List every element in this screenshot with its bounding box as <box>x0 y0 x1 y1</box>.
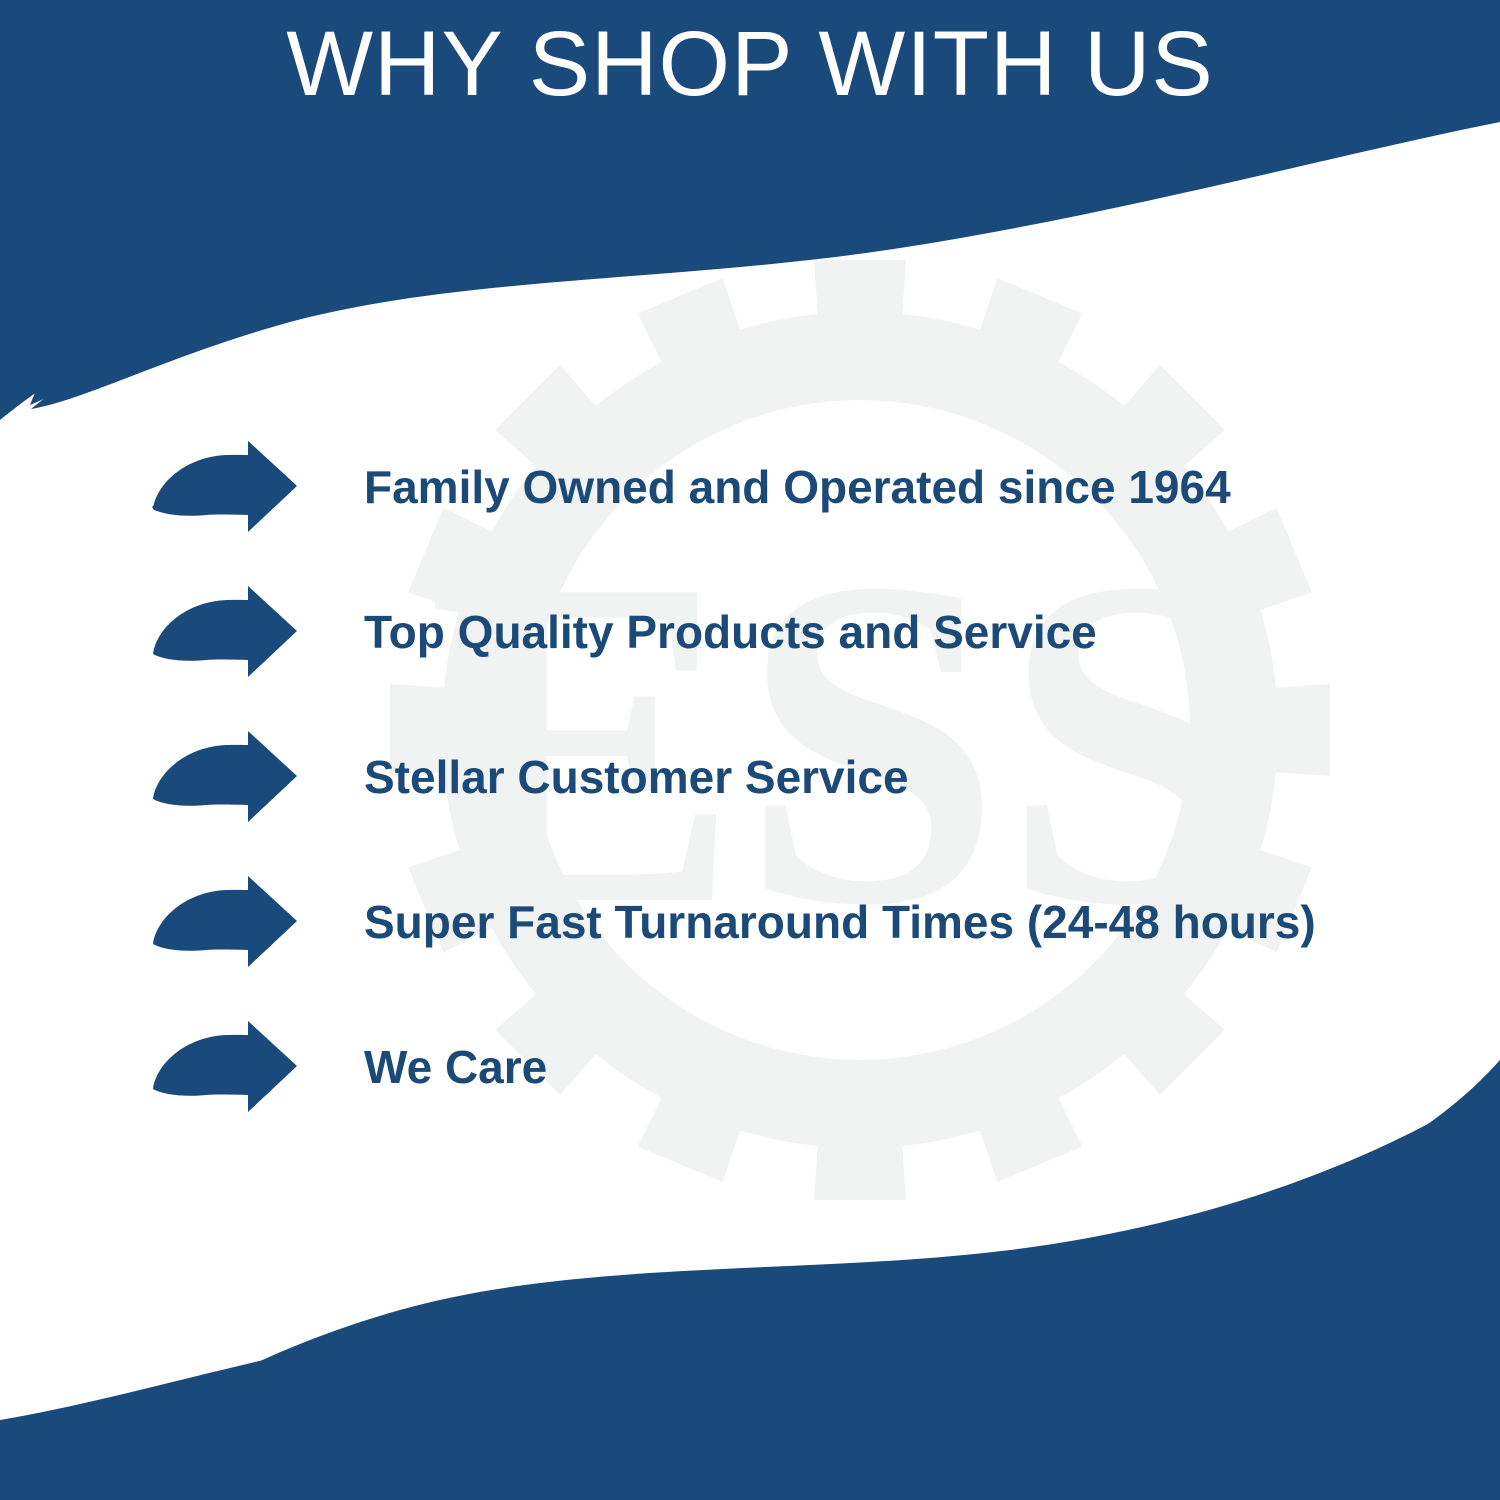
list-item: Stellar Customer Service <box>150 727 1460 827</box>
curved-arrow-right-icon <box>150 876 298 968</box>
list-item: Family Owned and Operated since 1964 <box>150 437 1460 537</box>
curved-arrow-right-icon <box>150 1021 298 1113</box>
top-wave-sliver <box>31 76 1500 409</box>
curved-arrow-right-icon <box>150 731 298 823</box>
list-item: We Care <box>150 1017 1460 1117</box>
list-item-label: Super Fast Turnaround Times (24-48 hours… <box>364 897 1460 948</box>
list-item-label: We Care <box>364 1042 1460 1093</box>
bottom-wave-body <box>0 1062 1500 1500</box>
page-title: WHY SHOP WITH US <box>0 18 1500 110</box>
benefits-list: Family Owned and Operated since 1964 Top… <box>150 437 1460 1117</box>
list-item-label: Top Quality Products and Service <box>364 607 1460 658</box>
bottom-wave-fill <box>0 1060 1500 1500</box>
list-item-label: Stellar Customer Service <box>364 752 1460 803</box>
curved-arrow-right-icon <box>150 586 298 678</box>
list-item-label: Family Owned and Operated since 1964 <box>364 462 1460 513</box>
list-item: Top Quality Products and Service <box>150 582 1460 682</box>
list-item: Super Fast Turnaround Times (24-48 hours… <box>150 872 1460 972</box>
bottom-wave-sliver <box>85 1082 1500 1462</box>
why-shop-with-us-graphic: ESS WHY SHOP WITH US Family Owned and Op… <box>0 0 1500 1500</box>
curved-arrow-right-icon <box>150 441 298 533</box>
